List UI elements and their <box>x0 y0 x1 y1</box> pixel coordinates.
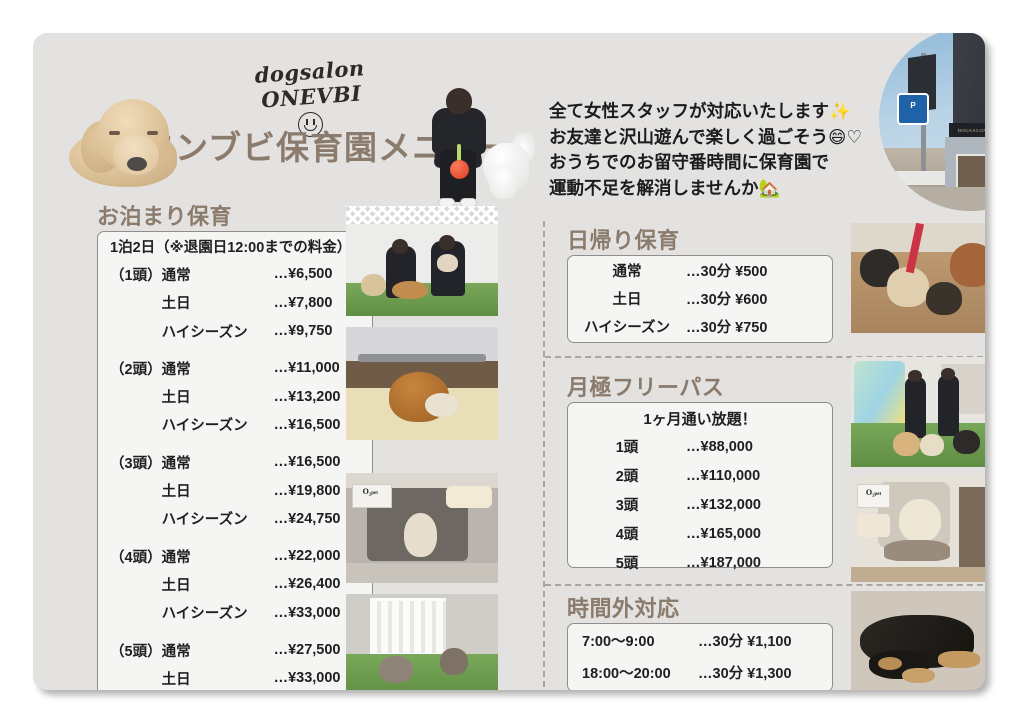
rate-label: ハイシーズン <box>568 312 686 340</box>
group-label: （2頭） <box>98 354 162 382</box>
chihuahua-in-oxygen-pet-room-photo: O₂pet <box>346 473 498 583</box>
table-row: 1ヶ月通い放題！ <box>568 403 832 432</box>
rate-label: 土日 <box>162 664 274 690</box>
section-heading-freepass: 月極フリーパス <box>567 370 724 402</box>
freepass-subtitle: 1ヶ月通い放題！ <box>568 403 832 432</box>
rate-label: 5頭 <box>568 548 686 577</box>
vertical-divider <box>543 221 545 690</box>
table-row: 土日 …30分 ¥600 <box>568 284 832 312</box>
table-row: （1頭） 通常 …¥6,500 <box>98 260 372 288</box>
daycare-price-box: 通常 …30分 ¥500 土日 …30分 ¥600 ハイシーズン …30分 ¥7… <box>567 255 833 343</box>
white-dog-in-pet-bed-photo: O₂pet <box>851 476 985 582</box>
staff-playing-with-dogs-butterfly-mural-photo <box>851 357 985 467</box>
sleeping-poodle-cutout <box>69 95 179 190</box>
rate-label: 1頭 <box>568 432 686 461</box>
time-label: 7:00〜9:00 <box>568 624 698 656</box>
staff-bending-with-toy-cutout <box>428 88 488 208</box>
table-row: 1泊2日（※退園日12:00までの料金） <box>98 232 372 260</box>
afterhours-price-table: 7:00〜9:00 …30分 ¥1,100 18:00〜20:00 …30分 ¥… <box>568 624 832 688</box>
rate-price: …30分 ¥1,100 <box>698 624 832 656</box>
rate-price: …30分 ¥1,300 <box>698 656 832 688</box>
poster-root: dogsalon ONEVBI ワンブビ保育園メニュー 全て女性スタッフが対応い… <box>0 0 1024 724</box>
intro-text: 全て女性スタッフが対応いたします✨ お友達と沢山遊んで楽しく過ごそう😄♡ おうち… <box>549 99 862 201</box>
staff-with-dogs-on-turf-photo <box>346 206 498 316</box>
rate-label: 通常 <box>162 542 274 570</box>
table-row: （4頭） 通常 …¥22,000 <box>98 542 372 570</box>
rate-label: 3頭 <box>568 490 686 519</box>
four-dogs-indoors-photo <box>851 223 985 333</box>
golden-retriever-on-blanket-photo <box>346 327 498 440</box>
table-row: 土日 …¥7,800 <box>98 289 372 317</box>
two-small-dogs-by-white-gate-photo <box>346 594 498 690</box>
storefront-circle-photo: DOGSALON & EXTERIOR GARDEN P <box>879 33 985 211</box>
table-row: 3頭 …¥132,000 <box>568 490 832 519</box>
table-row: ハイシーズン …¥9,750 <box>98 317 372 345</box>
table-row: 1頭 …¥88,000 <box>568 432 832 461</box>
rate-label: 土日 <box>162 570 274 598</box>
freepass-price-box: 1ヶ月通い放題！ 1頭 …¥88,000 2頭 …¥110,000 3頭 …¥1… <box>567 402 833 568</box>
rate-price: …¥165,000 <box>686 519 832 548</box>
section-heading-daycare: 日帰り保育 <box>567 223 680 255</box>
section-heading-afterhours: 時間外対応 <box>567 591 680 623</box>
group-label: （3頭） <box>98 448 162 476</box>
horizontal-divider-2 <box>545 584 985 586</box>
stay-price-table: 1泊2日（※退園日12:00までの料金） （1頭） 通常 …¥6,500 土日 … <box>98 232 372 690</box>
group-label: （4頭） <box>98 542 162 570</box>
table-row: （3頭） 通常 …¥16,500 <box>98 448 372 476</box>
table-row: （5頭） 通常 …¥27,500 <box>98 636 372 664</box>
rate-price: …30分 ¥600 <box>686 284 832 312</box>
rate-label: 2頭 <box>568 461 686 490</box>
rate-label: 土日 <box>162 289 274 317</box>
rate-label: ハイシーズン <box>162 317 274 345</box>
table-row: 5頭 …¥187,000 <box>568 548 832 577</box>
rate-label: 通常 <box>162 636 274 664</box>
rate-label: 通常 <box>568 256 686 284</box>
rate-label: ハイシーズン <box>162 411 274 439</box>
rate-label: 土日 <box>568 284 686 312</box>
section-heading-stay: お泊まり保育 <box>97 199 232 231</box>
afterhours-price-box: 7:00〜9:00 …30分 ¥1,100 18:00〜20:00 …30分 ¥… <box>567 623 833 690</box>
rate-label: 通常 <box>162 448 274 476</box>
rate-label: 通常 <box>162 260 274 288</box>
rate-label: 4頭 <box>568 519 686 548</box>
table-row: ハイシーズン …¥33,000 <box>98 599 372 627</box>
table-row: 土日 …¥33,000 <box>98 664 372 690</box>
time-label: 18:00〜20:00 <box>568 656 698 688</box>
group-label: （1頭） <box>98 260 162 288</box>
rate-price: …¥187,000 <box>686 548 832 577</box>
rate-label: 通常 <box>162 354 274 382</box>
stay-price-box: 1泊2日（※退園日12:00までの料金） （1頭） 通常 …¥6,500 土日 … <box>97 231 373 690</box>
table-row: 土日 …¥26,400 <box>98 570 372 598</box>
menu-card: dogsalon ONEVBI ワンブビ保育園メニュー 全て女性スタッフが対応い… <box>33 33 985 690</box>
stay-note: 1泊2日（※退園日12:00までの料金） <box>98 232 372 260</box>
table-row: ハイシーズン …¥16,500 <box>98 411 372 439</box>
white-dog-cutout <box>483 133 535 203</box>
table-row: 4頭 …¥165,000 <box>568 519 832 548</box>
table-row: 土日 …¥13,200 <box>98 382 372 410</box>
table-row: 7:00〜9:00 …30分 ¥1,100 <box>568 624 832 656</box>
table-row: 土日 …¥19,800 <box>98 476 372 504</box>
group-label: （5頭） <box>98 636 162 664</box>
table-row: （2頭） 通常 …¥11,000 <box>98 354 372 382</box>
table-row: ハイシーズン …30分 ¥750 <box>568 312 832 340</box>
rate-label: ハイシーズン <box>162 505 274 533</box>
rate-price: …30分 ¥500 <box>686 256 832 284</box>
freepass-price-table: 1ヶ月通い放題！ 1頭 …¥88,000 2頭 …¥110,000 3頭 …¥1… <box>568 403 832 577</box>
black-tan-dog-lying-down-photo <box>851 591 985 690</box>
rate-price: …¥110,000 <box>686 461 832 490</box>
rate-price: …30分 ¥750 <box>686 312 832 340</box>
table-row: 18:00〜20:00 …30分 ¥1,300 <box>568 656 832 688</box>
rate-price: …¥132,000 <box>686 490 832 519</box>
rate-label: 土日 <box>162 476 274 504</box>
table-row: ハイシーズン …¥24,750 <box>98 505 372 533</box>
table-row: 2頭 …¥110,000 <box>568 461 832 490</box>
brand-name: dogsalon ONEVBI <box>202 52 420 117</box>
daycare-price-table: 通常 …30分 ¥500 土日 …30分 ¥600 ハイシーズン …30分 ¥7… <box>568 256 832 340</box>
rate-label: 土日 <box>162 382 274 410</box>
table-row: 通常 …30分 ¥500 <box>568 256 832 284</box>
rate-label: ハイシーズン <box>162 599 274 627</box>
rate-price: …¥88,000 <box>686 432 832 461</box>
